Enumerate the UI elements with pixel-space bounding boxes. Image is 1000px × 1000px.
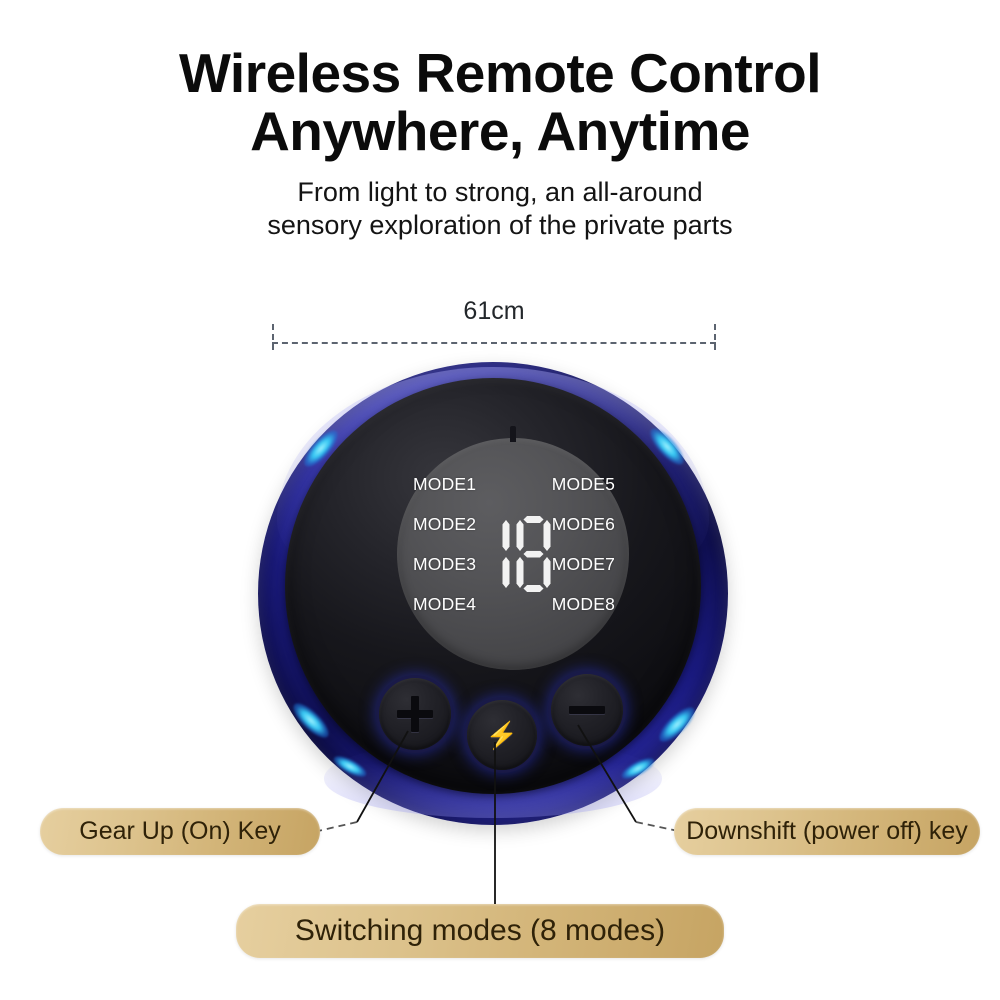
callout-downshift: Downshift (power off) key [674,808,980,855]
segment-d [524,585,544,592]
mode-switch-button[interactable]: ⚡ [467,700,537,770]
mode-label-1: MODE1 [413,474,476,494]
subtitle-line-1: From light to strong, an all-around [0,176,1000,209]
gear-up-button[interactable] [379,678,451,750]
headline-line-2: Anywhere, Anytime [0,102,1000,160]
callout-gear-up: Gear Up (On) Key [40,808,320,855]
plus-icon [397,696,433,732]
segment-f [517,520,524,551]
mode-label-3: MODE3 [413,554,476,574]
callout-switching-modes: Switching modes (8 modes) [236,904,724,958]
segment-digit [517,516,551,592]
mode-label-6: MODE6 [552,514,615,534]
segment-c [544,557,551,588]
dimension-label: 61cm [272,297,716,326]
lcd-display: MODE1 MODE2 MODE3 MODE4 MODE5 MODE6 MODE… [397,438,629,670]
indicator-nub-icon [510,426,516,442]
mode-column-right: MODE5 MODE6 MODE7 MODE8 [552,474,615,614]
segment-c [503,557,510,588]
subtitle-line-2: sensory exploration of the private parts [0,209,1000,242]
dimension-cap-left [272,324,274,350]
device-face: MODE1 MODE2 MODE3 MODE4 MODE5 MODE6 MODE… [285,378,701,794]
dimension-rule [272,342,716,344]
mode-label-8: MODE8 [552,594,615,614]
mode-label-4: MODE4 [413,594,476,614]
remote-control-device: MODE1 MODE2 MODE3 MODE4 MODE5 MODE6 MODE… [258,362,728,825]
mode-label-2: MODE2 [413,514,476,534]
dimension-caliper: 61cm [272,297,716,347]
lightning-bolt-icon: ⚡ [486,722,518,748]
mode-label-5: MODE5 [552,474,615,494]
page-title: Wireless Remote Control Anywhere, Anytim… [0,44,1000,160]
dimension-cap-right [714,324,716,350]
segment-g [524,551,544,558]
mode-column-left: MODE1 MODE2 MODE3 MODE4 [413,474,476,614]
callout-gear-up-label: Gear Up (On) Key [79,817,280,846]
callout-switching-modes-label: Switching modes (8 modes) [295,914,665,948]
segment-b [544,520,551,551]
minus-icon [569,692,605,728]
callout-downshift-label: Downshift (power off) key [686,817,968,846]
segment-digit [476,516,510,592]
downshift-button[interactable] [551,674,623,746]
segment-a [524,516,544,523]
page-subtitle: From light to strong, an all-around sens… [0,176,1000,242]
headline-line-1: Wireless Remote Control [0,44,1000,102]
seven-segment-readout [476,516,551,592]
segment-e [517,557,524,588]
mode-label-7: MODE7 [552,554,615,574]
segment-b [503,520,510,551]
